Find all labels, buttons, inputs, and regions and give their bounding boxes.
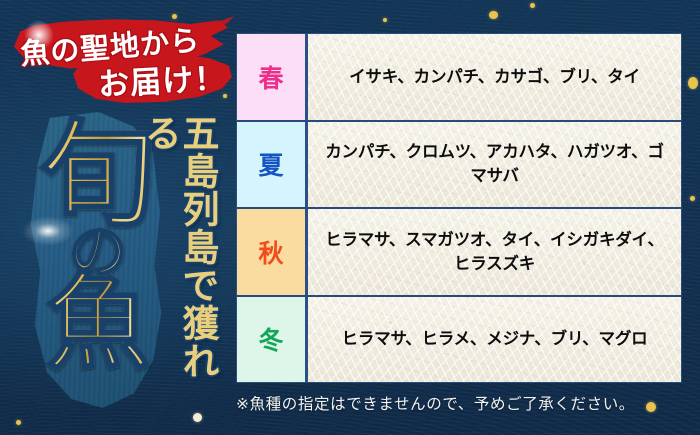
banner-line-2: お届け！ — [97, 53, 227, 105]
season-label-cell: 夏 — [237, 122, 308, 208]
vertical-caption: 五島列島で獲れる — [168, 114, 216, 400]
footnote-text: ※魚種の指定はできませんので、予めご了承ください。 — [236, 392, 686, 414]
fish-list-cell: ヒラマサ、スマガツオ、タイ、イシガキダイ、ヒラスズキ — [308, 209, 681, 295]
decor-dot — [690, 196, 695, 201]
decor-dot — [530, 3, 535, 8]
fish-list-cell: カンパチ、クロムツ、アカハタ、ハガツオ、ゴマサバ — [308, 122, 681, 208]
fish-list-cell: ヒラマサ、ヒラメ、メジナ、ブリ、マグロ — [308, 297, 681, 383]
table-row: 冬 ヒラマサ、ヒラメ、メジナ、ブリ、マグロ — [237, 297, 681, 383]
main-title: 旬 の 魚 — [34, 120, 162, 373]
seasonal-fish-table: 春 イサキ、カンパチ、カサゴ、ブリ、タイ 夏 カンパチ、クロムツ、アカハタ、ハガ… — [236, 33, 682, 383]
hero-panel: 魚の聖地から お届け！ 旬 の 魚 五島列島で獲れる — [0, 0, 236, 435]
season-label-cell: 春 — [237, 34, 308, 120]
red-brush-banner: 魚の聖地から お届け！ — [8, 8, 236, 100]
main-title-char-3: 魚 — [46, 273, 150, 373]
sparkle-icon — [22, 216, 74, 246]
table-row: 夏 カンパチ、クロムツ、アカハタ、ハガツオ、ゴマサバ — [237, 122, 681, 210]
decor-dot — [489, 11, 498, 19]
season-label-cell: 冬 — [237, 297, 308, 383]
poster-canvas: 魚の聖地から お届け！ 旬 の 魚 五島列島で獲れる 春 イサキ、カンパチ、カサ… — [0, 0, 700, 435]
season-label-cell: 秋 — [237, 209, 308, 295]
decor-dot — [688, 77, 698, 89]
table-row: 春 イサキ、カンパチ、カサゴ、ブリ、タイ — [237, 34, 681, 122]
table-row: 秋 ヒラマサ、スマガツオ、タイ、イシガキダイ、ヒラスズキ — [237, 209, 681, 297]
decor-dot — [383, 18, 387, 22]
fish-list-cell: イサキ、カンパチ、カサゴ、ブリ、タイ — [308, 34, 681, 120]
